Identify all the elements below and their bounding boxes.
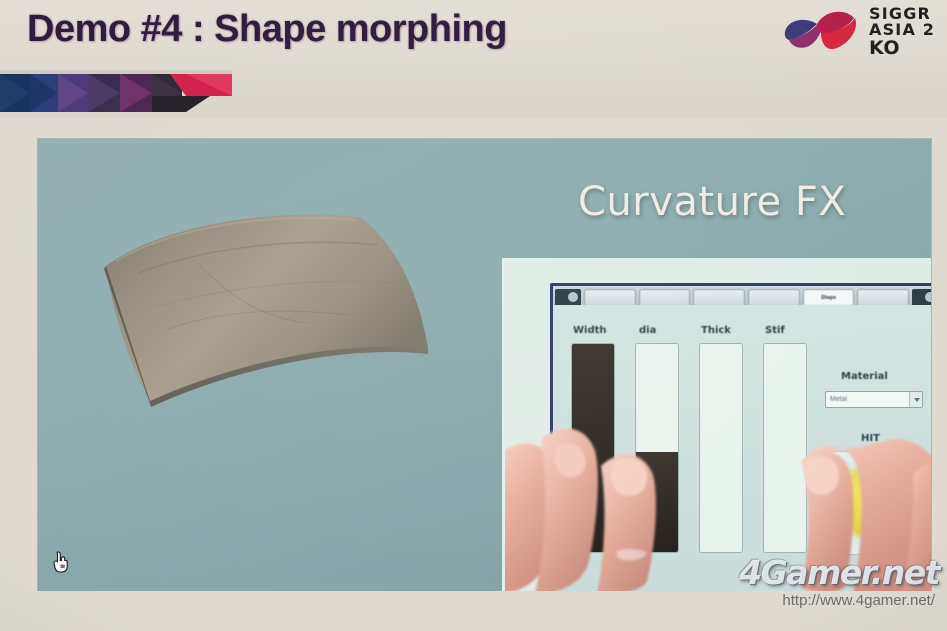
tablet-demo-photo: Shape Width dia Thick Stif — [502, 258, 931, 591]
stiffness-slider[interactable] — [763, 343, 807, 553]
triangle-band-svg — [0, 70, 232, 112]
thickness-slider[interactable] — [699, 343, 743, 553]
material-dropdown[interactable]: Metal — [825, 391, 923, 408]
triangle-band — [0, 70, 232, 112]
stiffness-slider-label: Stif — [765, 325, 785, 336]
logo-line-3: KO — [869, 39, 947, 58]
tab-bar[interactable]: Shape — [553, 286, 931, 305]
tab-4[interactable] — [748, 289, 800, 305]
watermark: 4Gamer.net http://www.4gamer.net/ — [739, 556, 939, 609]
tab-2[interactable] — [639, 289, 691, 305]
hit-button[interactable] — [833, 463, 911, 541]
diameter-slider-label: dia — [639, 325, 656, 336]
tab-bar-menu-icon[interactable] — [912, 289, 931, 305]
siggraph-asia-logo-mark — [779, 6, 861, 62]
thickness-slider-label: Thick — [701, 325, 731, 336]
tab-1[interactable] — [584, 289, 636, 305]
tablet-device: Shape Width dia Thick Stif — [550, 283, 931, 591]
siggraph-asia-logo-text: SIGGR ASIA 2 KO — [869, 6, 947, 58]
tab-6[interactable] — [857, 289, 909, 305]
curvature-fx-heading: Curvature FX — [578, 179, 846, 225]
watermark-url: http://www.4gamer.net/ — [739, 592, 935, 609]
tab-3[interactable] — [693, 289, 745, 305]
diameter-slider-fill — [636, 452, 678, 552]
material-value: Metal — [826, 396, 909, 403]
chevron-down-icon[interactable] — [909, 392, 922, 407]
width-slider-fill — [572, 344, 614, 552]
hit-label: HIT — [861, 433, 880, 444]
app-canvas: Width dia Thick Stif — [553, 305, 931, 591]
slide-body: Curvature FX — [38, 139, 931, 591]
page-title: Demo #4 : Shape morphing — [27, 8, 507, 51]
watermark-logo: 4Gamer.net — [739, 556, 939, 589]
projected-slide-photo: Demo #4 : Shape morphing — [0, 0, 947, 631]
tab-shape[interactable]: Shape — [803, 289, 855, 305]
slide-header: Demo #4 : Shape morphing — [0, 0, 947, 118]
width-slider[interactable] — [571, 343, 615, 553]
siggraph-asia-logo: SIGGR ASIA 2 KO — [761, 2, 947, 68]
diameter-slider[interactable] — [635, 343, 679, 553]
curved-sheet-mesh — [98, 211, 438, 416]
width-slider-label: Width — [573, 325, 607, 336]
material-label: Material — [841, 371, 888, 382]
pointing-hand-cursor — [52, 550, 72, 574]
tab-bar-corner-icon — [555, 289, 581, 305]
